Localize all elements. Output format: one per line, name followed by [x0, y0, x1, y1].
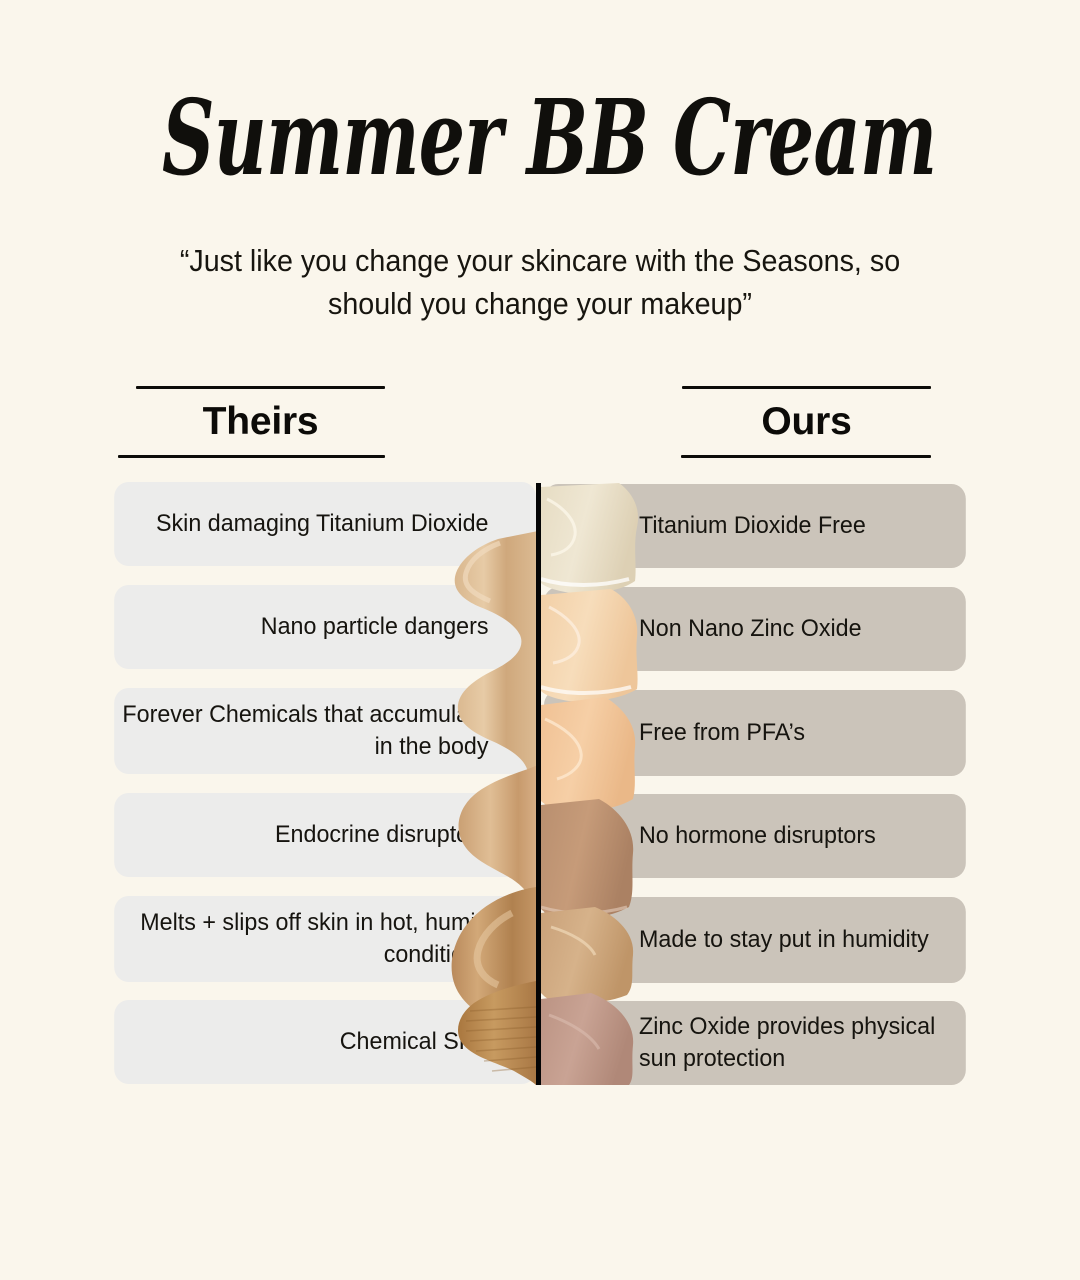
column-header-theirs-label: Theirs: [136, 389, 385, 455]
header-rule-bottom: [681, 455, 931, 458]
header-rule-bottom: [118, 455, 385, 458]
foundation-swatch-image: [440, 483, 644, 1085]
cream-swatch-6: [541, 993, 633, 1085]
swatch-right-cream: [541, 483, 644, 1085]
page-title: Summer BB Cream: [162, 86, 918, 190]
cream-swatch-4: [541, 799, 633, 920]
column-header-ours: Ours: [682, 386, 931, 458]
cream-swatch-3: [541, 697, 635, 812]
cream-swatch-2: [541, 589, 638, 702]
cream-swatch-5: [541, 907, 633, 1004]
column-header-ours-label: Ours: [682, 389, 931, 455]
comparison-infographic: Summer BB Cream “Just like you change yo…: [0, 0, 1080, 1280]
liquid-foundation-svg: [440, 483, 538, 1085]
cream-swatch-1: [541, 483, 638, 594]
liquid-smear-2: [459, 765, 538, 907]
page-subtitle: “Just like you change your skincare with…: [145, 240, 935, 327]
center-divider-line: [536, 483, 541, 1085]
cream-swatch-svg: [541, 483, 644, 1085]
swatch-left-liquid: [440, 483, 538, 1085]
column-header-theirs: Theirs: [136, 386, 385, 458]
